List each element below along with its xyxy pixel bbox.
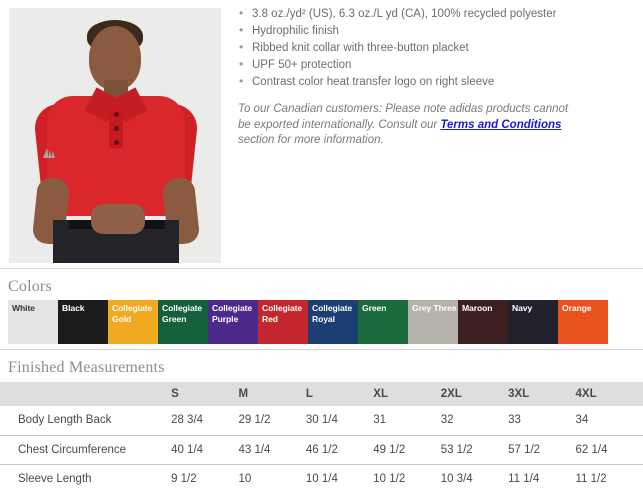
table-row: Sleeve Length 9 1/2 10 10 1/4 10 1/2 10 … [0, 464, 643, 492]
cell-value: 40 1/4 [171, 435, 238, 464]
table-header-cell-m: M [238, 382, 305, 406]
divider-above-colors [0, 268, 643, 269]
terms-and-conditions-link[interactable]: Terms and Conditions [440, 119, 561, 131]
table-header-cell-2xl: 2XL [441, 382, 508, 406]
color-swatch-maroon[interactable]: Maroon [458, 300, 508, 344]
color-swatch-collegiate-green[interactable]: Collegiate Green [158, 300, 208, 344]
cell-value: 43 1/4 [238, 435, 305, 464]
color-swatch-label: Navy [512, 303, 558, 314]
color-swatch-white[interactable]: White [8, 300, 58, 344]
cell-value: 29 1/2 [238, 406, 305, 435]
table-header-row: S M L XL 2XL 3XL 4XL [0, 382, 643, 406]
product-top-section: 3.8 oz./yd² (US), 6.3 oz./L yd (CA), 100… [0, 0, 643, 268]
divider-above-measurements [0, 349, 643, 350]
color-swatch-label: Black [62, 303, 108, 314]
color-swatch-grey-three[interactable]: Grey Three [408, 300, 458, 344]
color-swatch-label: Collegiate Red [262, 303, 308, 324]
spec-bullet-list: 3.8 oz./yd² (US), 6.3 oz./L yd (CA), 100… [238, 6, 638, 91]
cell-value: 57 1/2 [508, 435, 575, 464]
cell-value: 30 1/4 [306, 406, 373, 435]
table-body: Body Length Back 28 3/4 29 1/2 30 1/4 31… [0, 406, 643, 492]
row-label: Sleeve Length [0, 464, 171, 492]
color-swatch-collegiate-gold[interactable]: Collegiate Gold [108, 300, 158, 344]
cell-value: 32 [441, 406, 508, 435]
table-header: S M L XL 2XL 3XL 4XL [0, 382, 643, 406]
color-swatch-label: Collegiate Green [162, 303, 208, 324]
color-swatch-label: Orange [562, 303, 608, 314]
cell-value: 10 1/4 [306, 464, 373, 492]
canadian-customers-note: To our Canadian customers: Please note a… [238, 102, 578, 149]
cell-value: 62 1/4 [576, 435, 643, 464]
color-swatch-label: Collegiate Gold [112, 303, 158, 324]
finished-measurements-table: S M L XL 2XL 3XL 4XL Body Length Back 28… [0, 382, 643, 492]
table-header-cell-4xl: 4XL [576, 382, 643, 406]
cell-value: 9 1/2 [171, 464, 238, 492]
product-detail-page: 3.8 oz./yd² (US), 6.3 oz./L yd (CA), 100… [0, 0, 643, 492]
table-header-cell-s: S [171, 382, 238, 406]
spec-bullet: Contrast color heat transfer logo on rig… [238, 74, 638, 91]
color-swatch-collegiate-purple[interactable]: Collegiate Purple [208, 300, 258, 344]
spec-bullet: Hydrophilic finish [238, 23, 638, 40]
spec-bullet: Ribbed knit collar with three-button pla… [238, 40, 638, 57]
row-label: Body Length Back [0, 406, 171, 435]
photo-hands [91, 204, 145, 234]
table-header-cell-blank [0, 382, 171, 406]
cell-value: 11 1/4 [508, 464, 575, 492]
color-swatch-label: Grey Three [412, 303, 458, 314]
photo-button-bottom [114, 140, 119, 145]
table-row: Chest Circumference 40 1/4 43 1/4 46 1/2… [0, 435, 643, 464]
cell-value: 33 [508, 406, 575, 435]
cell-value: 34 [576, 406, 643, 435]
cell-value: 10 3/4 [441, 464, 508, 492]
cell-value: 53 1/2 [441, 435, 508, 464]
table-header-cell-l: L [306, 382, 373, 406]
color-swatch-label: Green [362, 303, 408, 314]
cell-value: 28 3/4 [171, 406, 238, 435]
color-swatch-navy[interactable]: Navy [508, 300, 558, 344]
color-swatch-collegiate-red[interactable]: Collegiate Red [258, 300, 308, 344]
table-header-cell-xl: XL [373, 382, 440, 406]
cell-value: 46 1/2 [306, 435, 373, 464]
color-swatch-black[interactable]: Black [58, 300, 108, 344]
note-text-after-link: section for more information. [238, 134, 384, 146]
measurements-heading: Finished Measurements [8, 359, 165, 377]
table-row: Body Length Back 28 3/4 29 1/2 30 1/4 31… [0, 406, 643, 435]
product-specs: 3.8 oz./yd² (US), 6.3 oz./L yd (CA), 100… [238, 6, 638, 160]
spec-bullet: 3.8 oz./yd² (US), 6.3 oz./L yd (CA), 100… [238, 6, 638, 23]
cell-value: 10 [238, 464, 305, 492]
spec-bullet: UPF 50+ protection [238, 57, 638, 74]
color-swatch-label: Maroon [462, 303, 508, 314]
color-swatch-label: Collegiate Royal [312, 303, 358, 324]
photo-button-top [114, 112, 119, 117]
color-swatch-label: Collegiate Purple [212, 303, 258, 324]
color-swatch-green[interactable]: Green [358, 300, 408, 344]
cell-value: 31 [373, 406, 440, 435]
color-swatch-strip: White Black Collegiate Gold Collegiate G… [8, 300, 608, 344]
row-label: Chest Circumference [0, 435, 171, 464]
color-swatch-collegiate-royal[interactable]: Collegiate Royal [308, 300, 358, 344]
product-image[interactable] [9, 8, 221, 263]
cell-value: 49 1/2 [373, 435, 440, 464]
cell-value: 10 1/2 [373, 464, 440, 492]
photo-button-middle [114, 126, 119, 131]
color-swatch-label: White [12, 303, 58, 314]
colors-heading: Colors [8, 278, 52, 296]
cell-value: 11 1/2 [576, 464, 643, 492]
color-swatch-orange[interactable]: Orange [558, 300, 608, 344]
table-header-cell-3xl: 3XL [508, 382, 575, 406]
